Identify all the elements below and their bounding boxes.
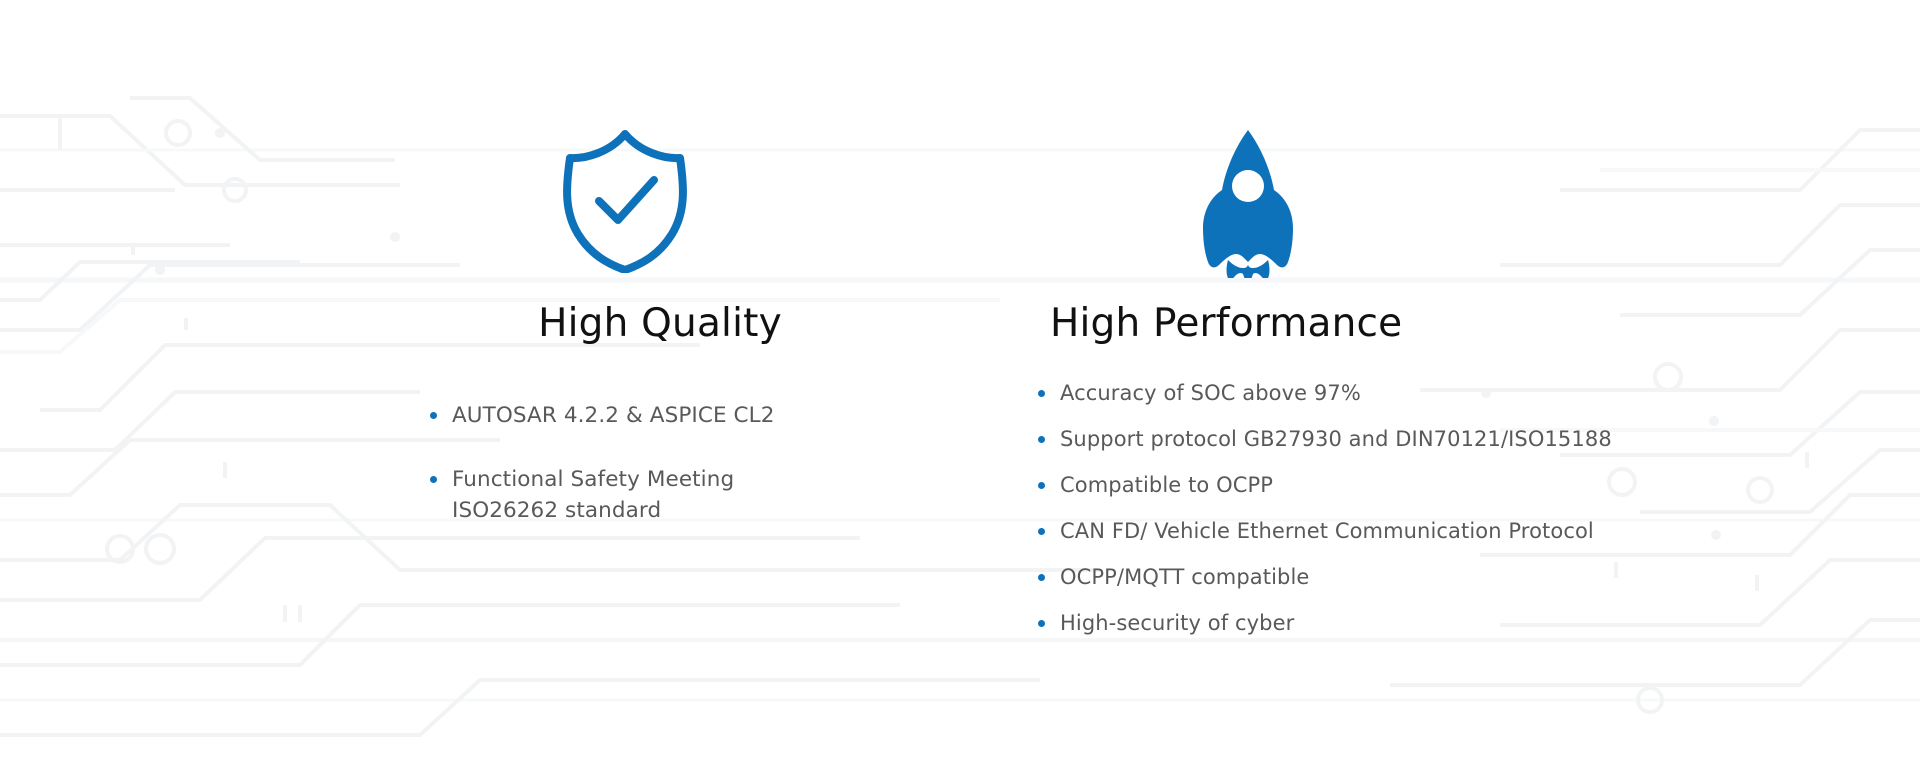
- list-item: OCPP/MQTT compatible: [1038, 562, 1738, 593]
- bullet-dot-icon: [1038, 620, 1045, 627]
- list-item-label: AUTOSAR 4.2.2 & ASPICE CL2: [452, 400, 850, 431]
- list-item-label: Compatible to OCPP: [1060, 470, 1738, 501]
- bullet-dot-icon: [1038, 436, 1045, 443]
- feature-title-quality: High Quality: [380, 300, 940, 348]
- list-item-label: CAN FD/ Vehicle Ethernet Communication P…: [1060, 516, 1738, 547]
- list-item-label: Support protocol GB27930 and DIN70121/IS…: [1060, 424, 1738, 455]
- bullet-dot-icon: [1038, 528, 1045, 535]
- list-item: High-security of cyber: [1038, 608, 1738, 639]
- list-item-label: Functional Safety Meeting ISO26262 stand…: [452, 464, 850, 526]
- list-item: CAN FD/ Vehicle Ethernet Communication P…: [1038, 516, 1738, 547]
- shield-check-icon: [560, 128, 690, 273]
- list-item: Support protocol GB27930 and DIN70121/IS…: [1038, 424, 1738, 455]
- bullet-dot-icon: [1038, 390, 1045, 397]
- bullet-dot-icon: [1038, 574, 1045, 581]
- bullet-dot-icon: [1038, 482, 1045, 489]
- feature-title-performance: High Performance: [1050, 300, 1402, 348]
- list-item-label: Accuracy of SOC above 97%: [1060, 378, 1738, 409]
- list-item: Compatible to OCPP: [1038, 470, 1738, 501]
- list-item: AUTOSAR 4.2.2 & ASPICE CL2: [430, 400, 850, 431]
- list-item-label: OCPP/MQTT compatible: [1060, 562, 1738, 593]
- list-item: Accuracy of SOC above 97%: [1038, 378, 1738, 409]
- list-item-label: High-security of cyber: [1060, 608, 1738, 639]
- feature-section: High Quality AUTOSAR 4.2.2 & ASPICE CL2 …: [0, 0, 1920, 767]
- feature-bullet-list-quality: AUTOSAR 4.2.2 & ASPICE CL2 Functional Sa…: [430, 400, 850, 559]
- rocket-icon: [1198, 128, 1298, 278]
- bullet-dot-icon: [430, 412, 437, 419]
- feature-bullet-list-performance: Accuracy of SOC above 97% Support protoc…: [1038, 378, 1738, 654]
- bullet-dot-icon: [430, 476, 437, 483]
- list-item: Functional Safety Meeting ISO26262 stand…: [430, 464, 850, 526]
